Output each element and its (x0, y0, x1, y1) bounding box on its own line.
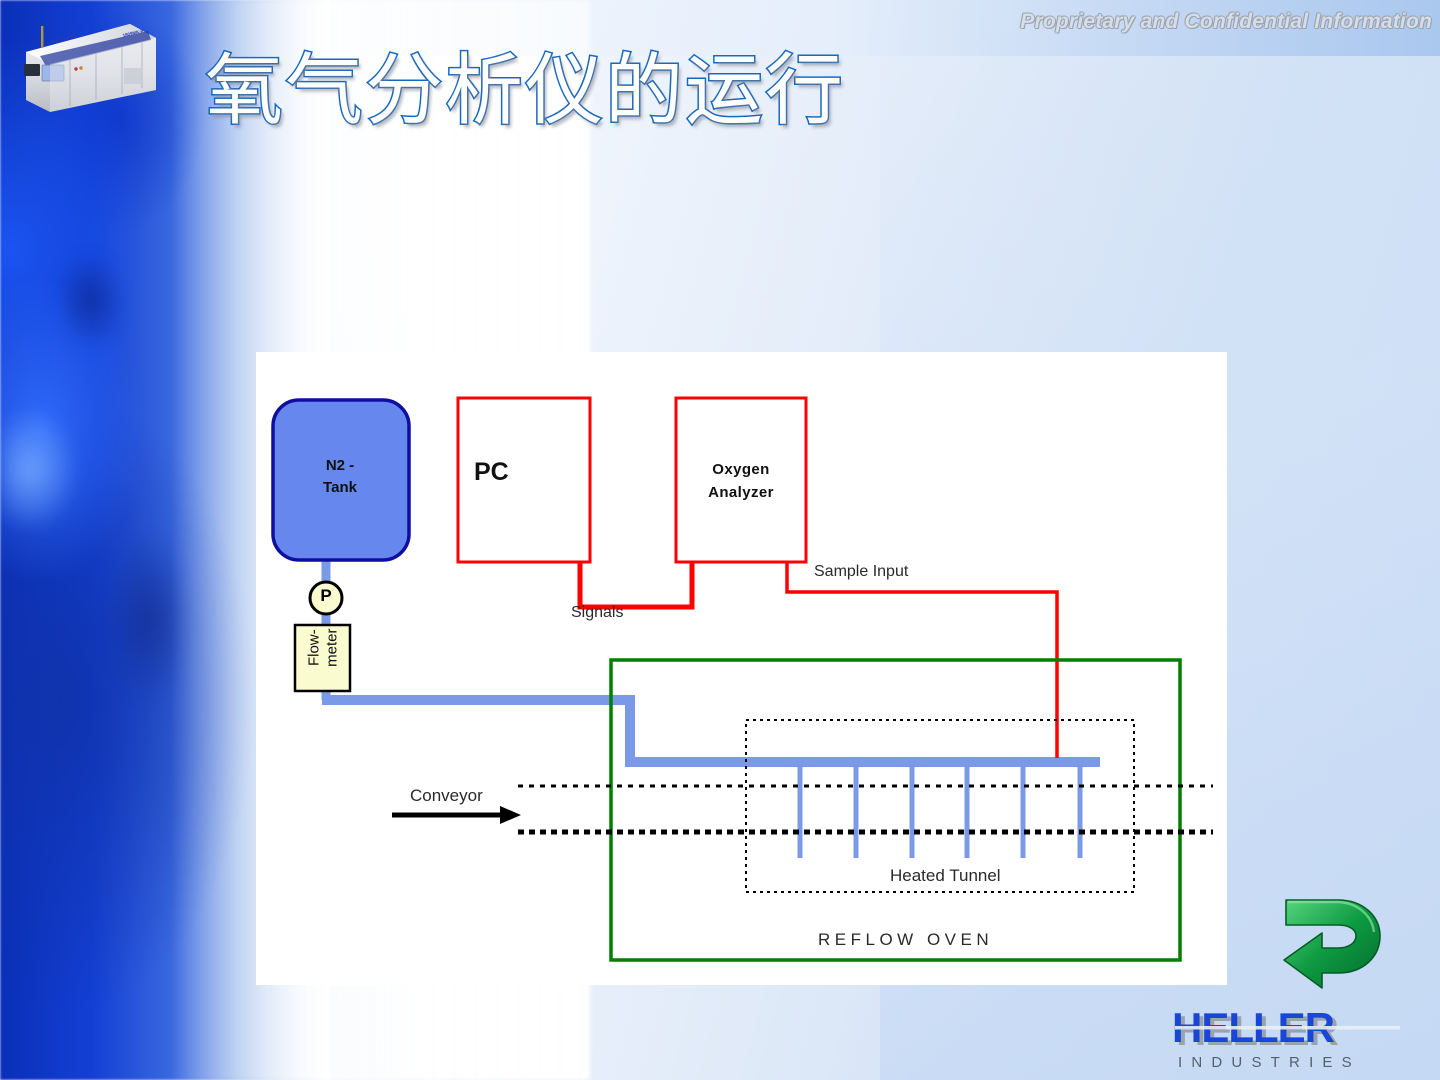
slide-root: HELLER 1809MK-ll Proprietary and Confide… (0, 0, 1440, 1080)
conveyor-arrow (392, 806, 521, 824)
n2-tank-label-line2: Tank (323, 479, 357, 496)
n2-tank-label: N2 - Tank (280, 455, 400, 499)
oxygen-analyzer-label: Oxygen Analyzer (676, 459, 806, 504)
signals-label: Signals (571, 604, 623, 622)
nitrogen-drop-pipes (800, 763, 1080, 858)
flow-meter-label-line2: meter (323, 629, 340, 667)
oxygen-analyzer-label-line2: Analyzer (708, 484, 774, 501)
heller-wordmark: HELLER HELLER (1172, 1005, 1400, 1054)
return-arrow-icon (1272, 886, 1388, 994)
svg-text:INDUSTRIES: INDUSTRIES (1178, 1054, 1361, 1071)
nitrogen-pipe-run (322, 700, 1100, 762)
flow-meter-label: Flow- meter (305, 602, 340, 694)
reflow-oven-label: REFLOW OVEN (818, 930, 993, 950)
pc-label: PC (474, 458, 509, 487)
heated-tunnel-label: Heated Tunnel (890, 866, 1001, 886)
sample-input-label: Sample Input (814, 563, 908, 581)
n2-tank-label-line1: N2 - (326, 457, 354, 474)
oxygen-analyzer-diagram (0, 0, 1440, 1080)
conveyor-lines (518, 786, 1213, 832)
reflow-oven-box (611, 660, 1180, 960)
signals-cable (580, 562, 692, 607)
heller-logo: HELLER HELLER INDUSTRIES (1172, 1005, 1434, 1075)
conveyor-label: Conveyor (410, 786, 483, 806)
oxygen-analyzer-label-line1: Oxygen (712, 461, 769, 478)
flow-meter-label-line1: Flow- (305, 629, 322, 666)
